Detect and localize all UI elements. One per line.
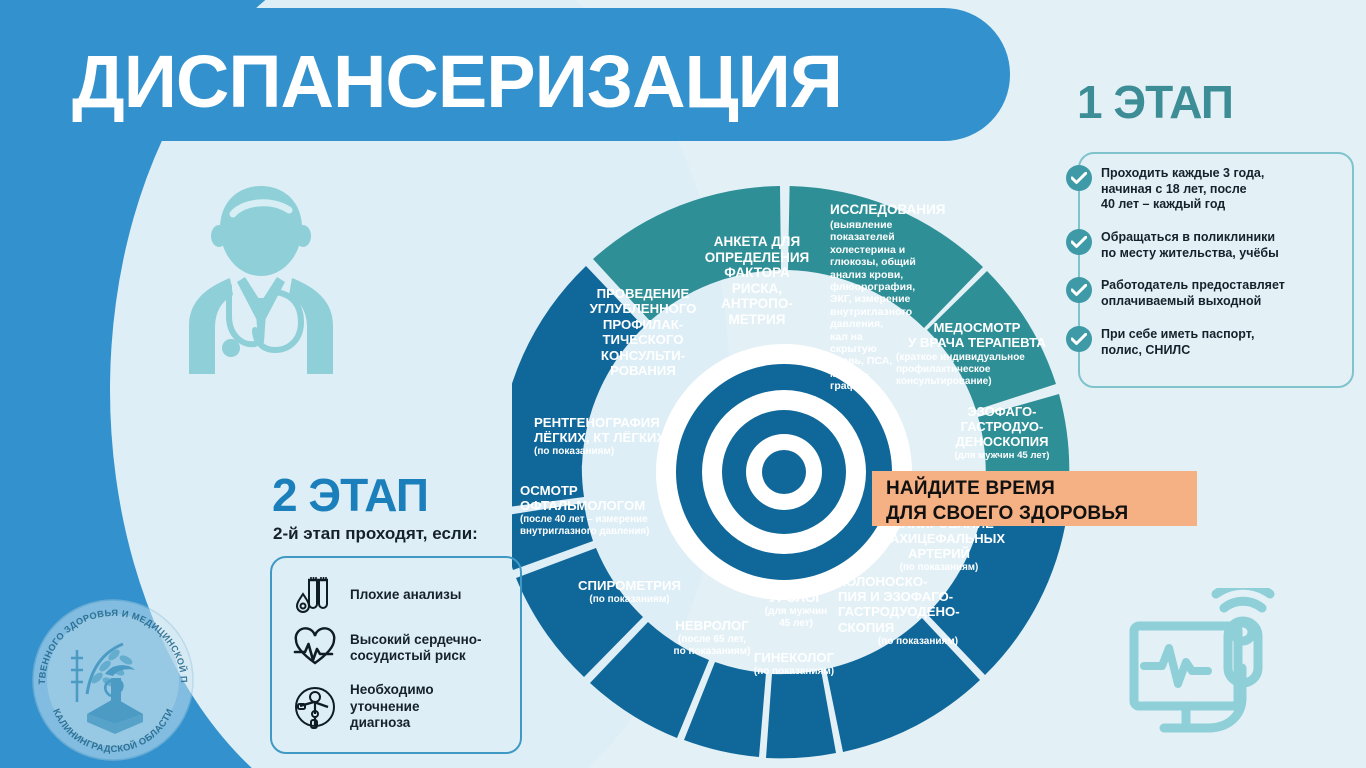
stage1-item-label: При себе иметь паспорт, полис, СНИЛС [1101,326,1254,358]
call-to-action-text: НАЙДИТЕ ВРЕМЯ ДЛЯ СВОЕГО ЗДОРОВЬЯ [886,476,1128,526]
stage2-item-label: Плохие анализы [350,587,461,604]
check-icon [1066,165,1092,191]
segment-konsultirovanie [512,266,644,465]
segment-rentgen [512,454,584,508]
stage1-item-0: Проходить каждые 3 года, начиная с 18 ле… [1066,165,1336,213]
stage2-item-label: Необходимо уточнение диагноза [350,682,434,732]
stage1-item-label: Проходить каждые 3 года, начиная с 18 ле… [1101,165,1264,213]
stage2-item-0: Плохие анализы [292,572,507,618]
stage2-item-2: Необходимо уточнение диагноза [292,682,507,732]
stage2-title: 2 ЭТАП [272,468,428,522]
test-tubes-icon [292,572,338,618]
stage2-subtitle: 2-й этап проходят, если: [273,524,478,544]
heart-pulse-icon [292,625,338,671]
stage1-item-label: Обращаться в поликлиники по месту житель… [1101,229,1279,261]
diagnostics-wheel: ИССЛЕДОВАНИЯ (выявление показателей холе… [512,150,1072,768]
segment-urolog [766,670,836,758]
monitor-ecg-ultrasound-icon [1128,588,1343,758]
doctor-stethoscope-icon [175,178,347,383]
organization-emblem: ЦЕНТР ОБЩЕСТВЕННОГО ЗДОРОВЬЯ И МЕДИЦИНСК… [25,592,200,764]
stage1-title: 1 ЭТАП [1077,75,1233,129]
stage1-item-1: Обращаться в поликлиники по месту житель… [1066,229,1338,261]
check-icon [1066,277,1092,303]
stage1-item-3: При себе иметь паспорт, полис, СНИЛС [1066,326,1336,358]
stage2-item-1: Высокий сердечно- сосудистый риск [292,625,514,671]
patient-diagnosis-icon [292,684,338,730]
stage2-item-label: Высокий сердечно- сосудистый риск [350,632,482,665]
poster-root: ДИСПАНСЕРИЗАЦИЯ 1 ЭТАП Проходить каждые … [0,0,1366,768]
segment-anketa [593,186,781,321]
stage1-item-label: Работодатель предоставляет оплачиваемый … [1101,277,1285,309]
page-title: ДИСПАНСЕРИЗАЦИЯ [72,45,842,119]
check-icon [1066,326,1092,352]
stage1-item-2: Работодатель предоставляет оплачиваемый … [1066,277,1341,309]
check-icon [1066,229,1092,255]
